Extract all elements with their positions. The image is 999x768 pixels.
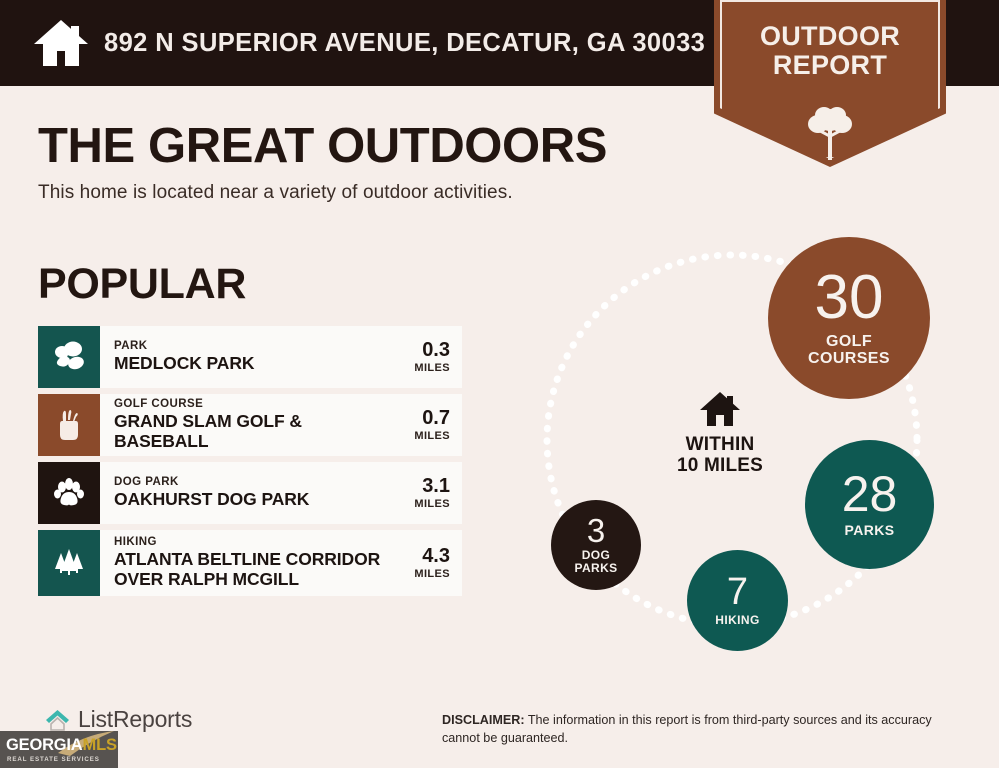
mls-mls: MLS xyxy=(83,736,117,754)
list-item-text: PARK MEDLOCK PARK xyxy=(100,326,400,388)
list-item-distance: 0.7 MILES xyxy=(400,394,462,456)
list-item-distance: 0.3 MILES xyxy=(400,326,462,388)
stat-bubble-parks[interactable]: 28 PARKS xyxy=(805,440,934,569)
list-item-distance-units: MILES xyxy=(414,568,450,580)
mls-georgia: GEORGIA xyxy=(6,736,83,754)
page-title: THE GREAT OUTDOORS xyxy=(38,118,607,174)
list-item-name-line1: ATLANTA BELTLINE CORRIDOR xyxy=(114,550,400,570)
list-item-distance-value: 4.3 xyxy=(422,546,450,566)
stat-bubble-dog-parks[interactable]: 3 DOG PARKS xyxy=(551,500,641,590)
list-item-name: GRAND SLAM GOLF & BASEBALL xyxy=(114,412,400,452)
stat-label: HIKING xyxy=(715,614,759,627)
listreports-brand[interactable]: ListReports xyxy=(44,706,192,733)
golf-bag-icon xyxy=(52,408,86,442)
disclaimer-label: DISCLAIMER: xyxy=(442,713,525,727)
stat-value: 7 xyxy=(727,574,748,610)
stat-label-line2: PARKS xyxy=(574,562,617,575)
paw-print-icon xyxy=(52,476,86,510)
list-item[interactable]: HIKING ATLANTA BELTLINE CORRIDOR OVER RA… xyxy=(38,530,462,596)
list-item-name-line2: OVER RALPH MCGILL xyxy=(114,570,400,590)
list-item-category: GOLF COURSE xyxy=(114,398,400,412)
list-item[interactable]: GOLF COURSE GRAND SLAM GOLF & BASEBALL 0… xyxy=(38,394,462,456)
list-item-distance-value: 3.1 xyxy=(422,476,450,496)
stat-bubble-golf-courses[interactable]: 30 GOLF COURSES xyxy=(768,237,930,399)
list-item-icon-tile xyxy=(38,326,100,388)
list-item-category: PARK xyxy=(114,340,400,354)
stat-label: GOLF COURSES xyxy=(808,333,890,368)
list-item-distance: 3.1 MILES xyxy=(400,462,462,524)
list-item-text: DOG PARK OAKHURST DOG PARK xyxy=(100,462,400,524)
mls-title: GEORGIAMLS xyxy=(6,737,117,754)
badge-line-1: OUTDOOR xyxy=(714,22,946,51)
diagram-center-line1: WITHIN xyxy=(640,434,800,455)
list-item-text: HIKING ATLANTA BELTLINE CORRIDOR OVER RA… xyxy=(100,530,400,596)
diagram-center-line2: 10 MILES xyxy=(640,455,800,476)
mls-subtitle: REAL ESTATE SERVICES xyxy=(7,756,100,763)
diagram-center: WITHIN 10 MILES xyxy=(640,390,800,477)
list-item-distance-units: MILES xyxy=(414,362,450,374)
disclaimer: DISCLAIMER: The information in this repo… xyxy=(442,712,970,748)
stat-label: PARKS xyxy=(845,523,895,538)
list-item-name: MEDLOCK PARK xyxy=(114,354,400,374)
stat-label: DOG PARKS xyxy=(574,549,617,575)
park-trees-icon xyxy=(51,340,87,374)
brand-name: ListReports xyxy=(78,706,192,733)
stat-label-line1: DOG xyxy=(574,549,617,562)
list-item-distance-value: 0.7 xyxy=(422,408,450,428)
stat-value: 28 xyxy=(842,471,898,519)
list-item-name: OAKHURST DOG PARK xyxy=(114,490,400,510)
header-address: 892 N SUPERIOR AVENUE, DECATUR, GA 30033 xyxy=(104,29,705,58)
stat-label-line2: COURSES xyxy=(808,350,890,367)
pine-trees-icon xyxy=(51,547,87,579)
list-item[interactable]: PARK MEDLOCK PARK 0.3 MILES xyxy=(38,326,462,388)
list-item-distance-units: MILES xyxy=(414,430,450,442)
list-item-distance-value: 0.3 xyxy=(422,340,450,360)
home-icon xyxy=(699,390,741,428)
within-10-miles-diagram: 30 GOLF COURSES 28 PARKS 7 HIKING 3 DOG … xyxy=(520,210,990,670)
list-item-text: GOLF COURSE GRAND SLAM GOLF & BASEBALL xyxy=(100,394,400,456)
list-item-icon-tile xyxy=(38,462,100,524)
list-item-category: HIKING xyxy=(114,536,400,550)
page-subtitle: This home is located near a variety of o… xyxy=(38,182,513,204)
stat-label-line1: GOLF xyxy=(808,333,890,350)
house-outline-icon xyxy=(44,707,71,732)
stat-value: 30 xyxy=(815,269,884,328)
list-item-icon-tile xyxy=(38,530,100,596)
list-item-category: DOG PARK xyxy=(114,476,400,490)
list-item-distance-units: MILES xyxy=(414,498,450,510)
popular-list: PARK MEDLOCK PARK 0.3 MILES GOLF COURSE … xyxy=(38,326,462,602)
stat-bubble-hiking[interactable]: 7 HIKING xyxy=(687,550,788,651)
section-title-popular: POPULAR xyxy=(38,260,246,309)
badge-line-2: REPORT xyxy=(714,51,946,80)
list-item-icon-tile xyxy=(38,394,100,456)
badge-text: OUTDOOR REPORT xyxy=(714,22,946,79)
list-item-distance: 4.3 MILES xyxy=(400,530,462,596)
georgia-mls-watermark: GEORGIAMLS REAL ESTATE SERVICES xyxy=(0,731,118,768)
stat-value: 3 xyxy=(587,515,605,546)
list-item[interactable]: DOG PARK OAKHURST DOG PARK 3.1 MILES xyxy=(38,462,462,524)
home-icon xyxy=(32,17,90,69)
tree-icon xyxy=(795,104,865,162)
